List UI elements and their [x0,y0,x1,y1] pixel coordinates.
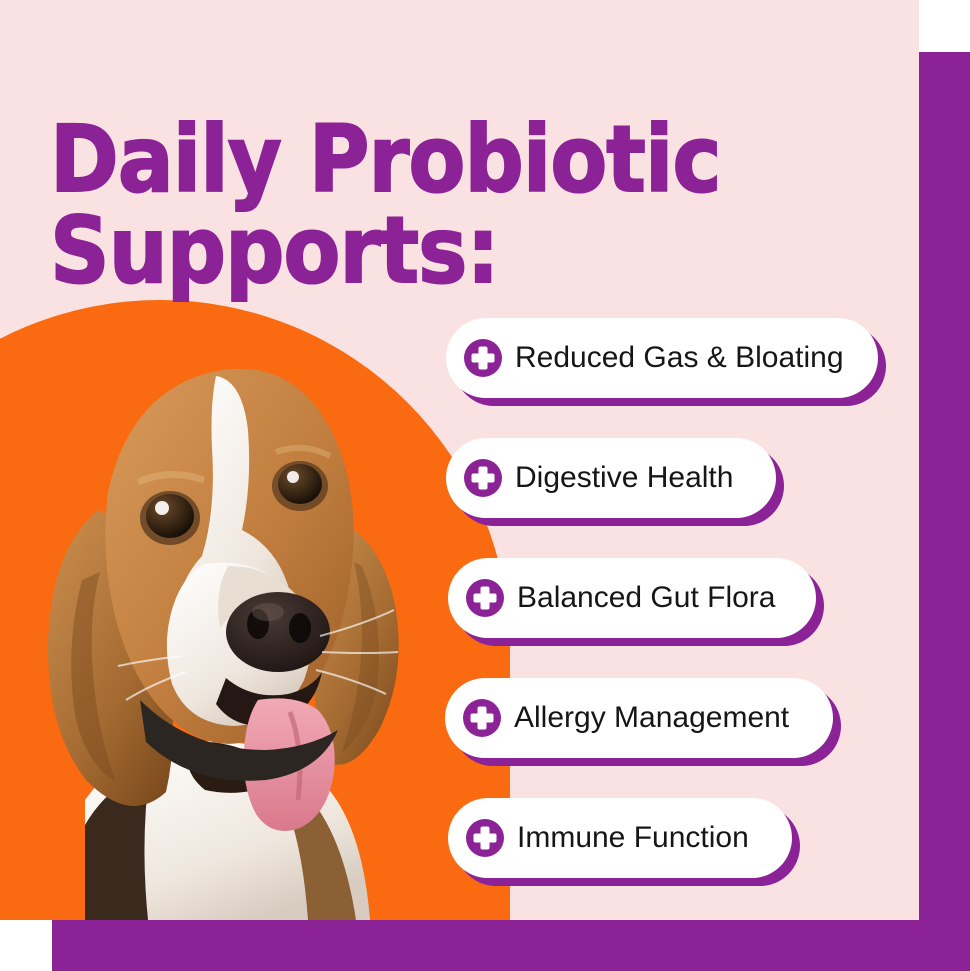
benefit-pill[interactable]: Allergy Management [445,678,833,758]
plus-icon [466,579,504,617]
frame-right-bar [919,52,970,971]
benefit-label: Allergy Management [514,701,789,735]
benefit-label: Digestive Health [515,461,733,495]
plus-icon [466,819,504,857]
benefit-pill[interactable]: Immune Function [448,798,792,878]
benefit-label: Immune Function [517,821,749,855]
list-item[interactable]: Balanced Gut Flora [448,558,910,678]
page-title: Daily Probiotic Supports: [50,114,752,296]
list-item[interactable]: Immune Function [448,798,910,918]
benefit-pill[interactable]: Balanced Gut Flora [448,558,816,638]
benefits-list: Reduced Gas & Bloating Digestive Health … [440,318,910,918]
benefit-label: Reduced Gas & Bloating [515,341,844,375]
benefit-pill[interactable]: Reduced Gas & Bloating [446,318,878,398]
benefit-label: Balanced Gut Flora [517,581,775,615]
poster-canvas: Daily Probiotic Supports: Reduced Gas & … [0,0,919,920]
list-item[interactable]: Digestive Health [446,438,910,558]
plus-icon [463,699,501,737]
beagle-dog-image [0,280,460,920]
product-infographic: Daily Probiotic Supports: Reduced Gas & … [0,0,970,971]
frame-bottom-bar [52,920,970,971]
list-item[interactable]: Allergy Management [445,678,910,798]
list-item[interactable]: Reduced Gas & Bloating [446,318,910,438]
plus-icon [464,459,502,497]
benefit-pill[interactable]: Digestive Health [446,438,776,518]
plus-icon [464,339,502,377]
